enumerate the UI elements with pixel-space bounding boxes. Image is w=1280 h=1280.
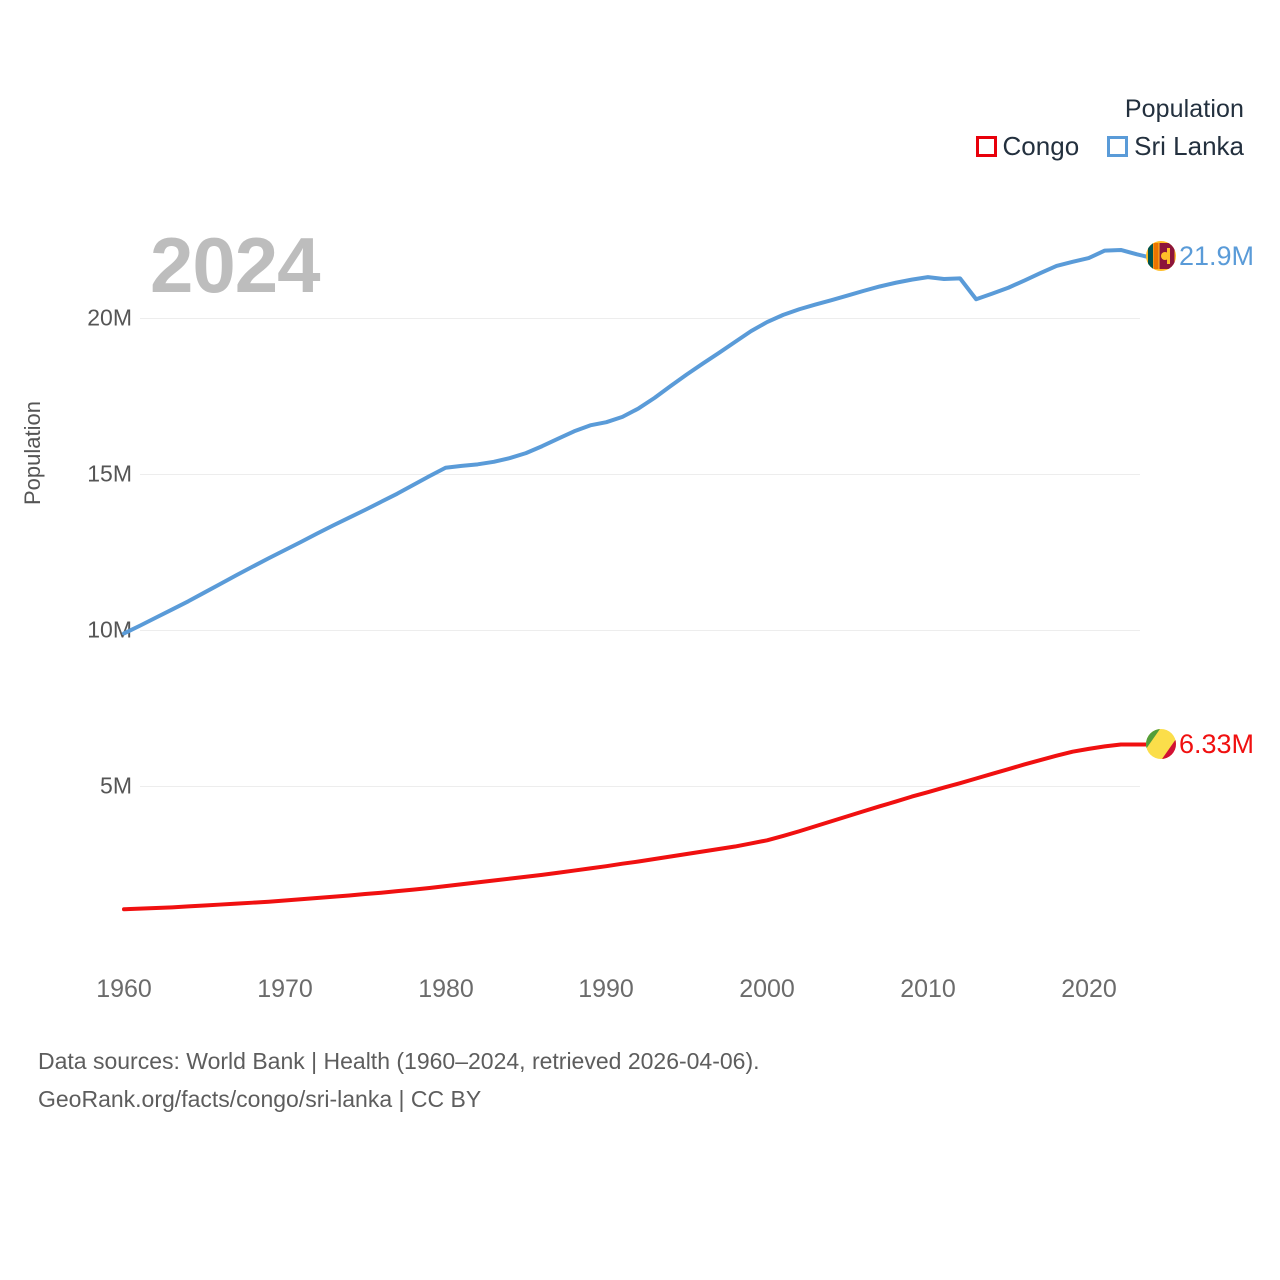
xtick-label-2000: 2000 [739, 975, 795, 1004]
sri-lanka-flag-icon [1146, 241, 1176, 271]
footer-line-url: GeoRank.org/facts/congo/sri-lanka | CC B… [38, 1080, 760, 1118]
line-sri-lanka [124, 250, 1153, 633]
congo-flag-icon [1146, 729, 1176, 759]
xtick-label-2020: 2020 [1061, 975, 1117, 1004]
xtick-label-1970: 1970 [257, 975, 313, 1004]
series-lines [0, 0, 1280, 1010]
footer-line-sources: Data sources: World Bank | Health (1960–… [38, 1042, 760, 1080]
footer-attribution: Data sources: World Bank | Health (1960–… [38, 1042, 760, 1118]
line-congo [124, 745, 1153, 910]
plot-area: 2024 20M 15M 10M 5M Population 1960 1970… [0, 0, 1280, 1010]
chart-page: Population Congo Sri Lanka 2024 20M 15M … [0, 0, 1280, 1280]
xtick-label-2010: 2010 [900, 975, 956, 1004]
endpoint-congo: 6.33M [1146, 729, 1254, 759]
xtick-label-1980: 1980 [418, 975, 474, 1004]
endpoint-value-sri-lanka: 21.9M [1179, 241, 1254, 271]
xtick-label-1960: 1960 [96, 975, 152, 1004]
xtick-label-1990: 1990 [578, 975, 634, 1004]
endpoint-value-congo: 6.33M [1179, 729, 1254, 759]
endpoint-sri-lanka: 21.9M [1146, 241, 1254, 271]
